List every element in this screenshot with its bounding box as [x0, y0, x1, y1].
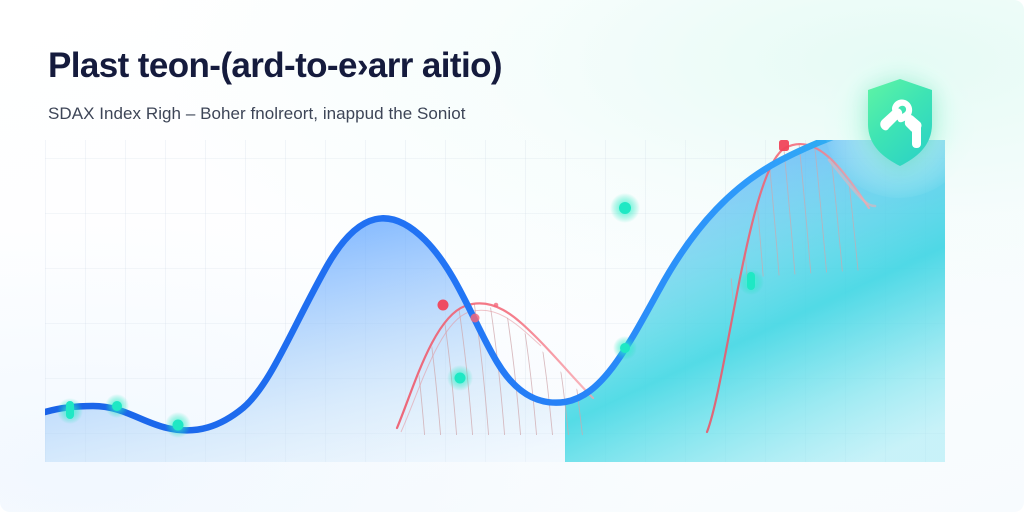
chart-plot-area — [45, 140, 945, 462]
data-point-marker[interactable] — [447, 365, 473, 391]
secondary-point-marker[interactable] — [438, 300, 449, 311]
page-subtitle: SDAX Index Righ – Boher fnolreort, inapp… — [48, 103, 688, 125]
data-point-marker[interactable] — [610, 193, 640, 223]
data-point-marker[interactable] — [613, 336, 637, 360]
secondary-point-marker[interactable] — [779, 140, 789, 151]
page-title: Plast teon-(ard-to-e›arr aitio) — [48, 46, 688, 87]
chart-card: Plast teon-(ard-to-e›arr aitio) SDAX Ind… — [0, 0, 1024, 512]
shield-check-icon — [862, 78, 938, 168]
data-point-marker[interactable] — [165, 412, 191, 438]
verified-shield-badge[interactable] — [846, 64, 952, 182]
data-point-marker[interactable] — [738, 269, 764, 295]
header: Plast teon-(ard-to-e›arr aitio) SDAX Ind… — [48, 46, 688, 125]
shield-body — [868, 79, 932, 166]
chart-series-group — [45, 106, 945, 462]
secondary-point-marker[interactable] — [494, 303, 499, 308]
data-point-marker[interactable] — [57, 398, 83, 424]
chart-svg — [45, 140, 945, 462]
secondary-point-marker[interactable] — [471, 314, 480, 323]
data-point-marker[interactable] — [105, 394, 129, 418]
